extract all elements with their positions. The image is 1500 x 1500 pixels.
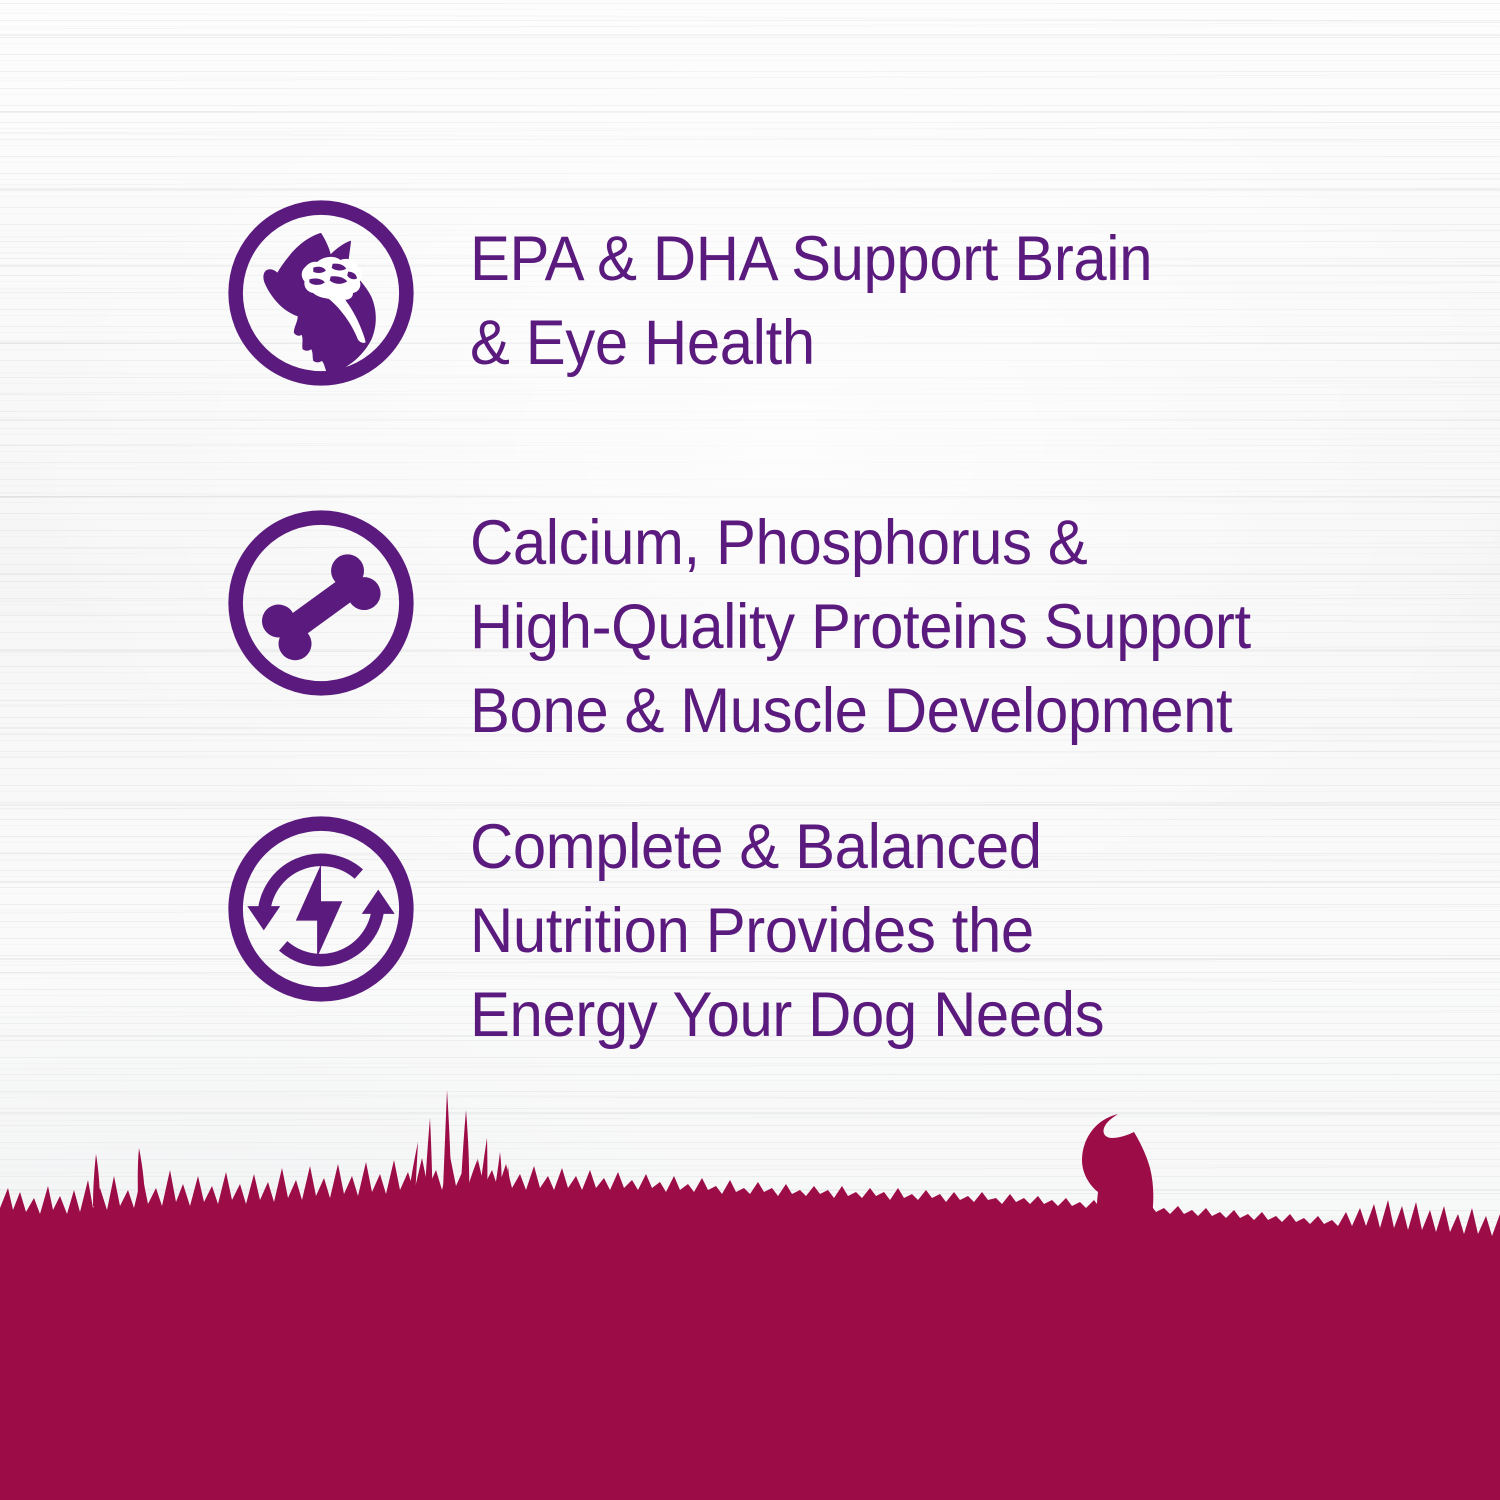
bone-icon — [222, 506, 420, 700]
dog-head-brain-icon — [222, 196, 420, 390]
feature-item-brain-eye-health: EPA & DHA Support Brain & Eye Health — [222, 196, 1188, 390]
foreground-scene — [0, 1080, 1500, 1500]
product-feature-poster: EPA & DHA Support Brain & Eye Health — [0, 0, 1500, 1500]
feature-text: Complete & Balanced Nutrition Provides t… — [470, 806, 1104, 1057]
feature-text: Calcium, Phosphorus & High-Quality Prote… — [470, 502, 1251, 753]
feature-item-bone-muscle: Calcium, Phosphorus & High-Quality Prote… — [222, 506, 1292, 753]
energy-cycle-icon — [222, 812, 420, 1006]
grass-silhouette — [0, 1156, 1500, 1500]
feature-text: EPA & DHA Support Brain & Eye Health — [470, 218, 1152, 386]
feature-item-complete-nutrition: Complete & Balanced Nutrition Provides t… — [222, 812, 1138, 1057]
